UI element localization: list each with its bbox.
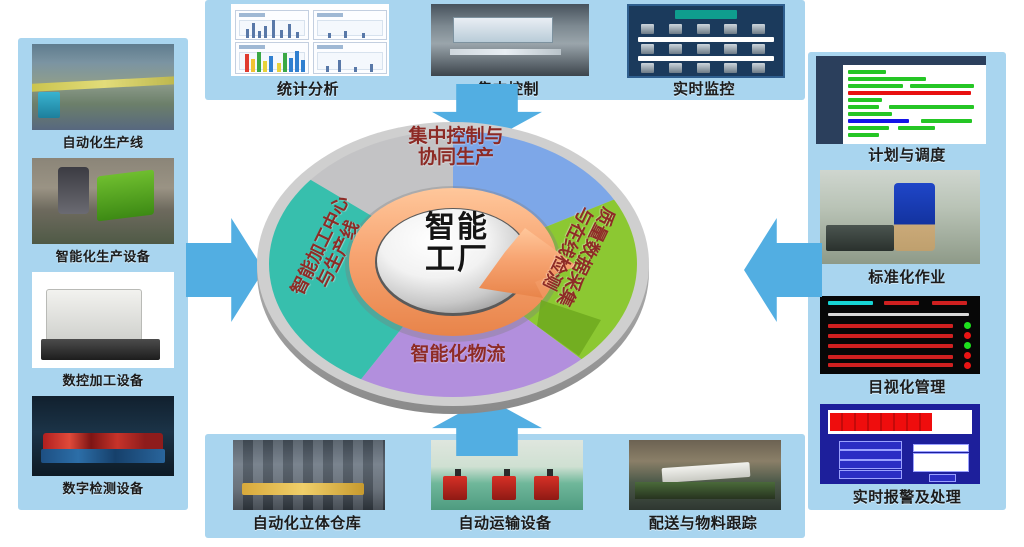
intelligent-production-equipment-thumbnail: [32, 158, 174, 244]
right-item-0[interactable]: 计划与调度: [812, 56, 1002, 166]
core-label: 智能 工厂: [377, 212, 537, 276]
right-item-2-caption: 目视化管理: [812, 376, 1002, 397]
left-panel: 自动化生产线 智能化生产设备 数控加工设备 数字检测设备: [18, 38, 188, 510]
right-item-0-caption: 计划与调度: [812, 144, 1002, 165]
diagram-canvas: 自动化生产线 智能化生产设备 数控加工设备 数字检测设备: [0, 0, 1024, 547]
bottom-item-2-caption: 配送与物料跟踪: [607, 512, 799, 533]
right-item-1-caption: 标准化作业: [812, 266, 1002, 287]
gantt-schedule-thumbnail: [816, 56, 986, 144]
left-item-1-caption: 智能化生产设备: [26, 246, 180, 265]
left-item-2-caption: 数控加工设备: [26, 370, 180, 389]
left-item-3-caption: 数字检测设备: [26, 478, 180, 497]
top-item-2-caption: 实时监控: [609, 78, 799, 99]
segment-top-label: 集中控制与 协同生产: [361, 126, 551, 169]
right-item-3[interactable]: 实时报警及处理: [812, 404, 1002, 508]
smart-factory-wheel: 集中控制与 协同生产 质量数据采集 与在线检测 智能化物流 智能加工中心 与生产…: [243, 112, 663, 417]
automated-warehouse-thumbnail: [233, 440, 385, 510]
right-item-1[interactable]: 标准化作业: [812, 170, 1002, 292]
left-item-2[interactable]: 数控加工设备: [26, 272, 180, 394]
bottom-item-0-caption: 自动化立体仓库: [211, 512, 403, 533]
top-item-0-caption: 统计分析: [213, 78, 403, 99]
right-panel: 计划与调度 标准化作业: [808, 52, 1006, 510]
realtime-monitor-thumbnail: [627, 4, 785, 78]
cnc-machine-thumbnail: [32, 272, 174, 368]
material-tracking-thumbnail: [629, 440, 781, 510]
alarm-handling-thumbnail: [820, 404, 980, 484]
digital-inspection-thumbnail: [32, 396, 174, 476]
left-item-0-caption: 自动化生产线: [26, 132, 180, 151]
automated-production-line-thumbnail: [32, 44, 174, 130]
bottom-item-1-caption: 自动运输设备: [409, 512, 601, 533]
top-item-1[interactable]: 集中控制: [413, 4, 603, 98]
top-item-2[interactable]: 实时监控: [609, 4, 799, 98]
right-item-2[interactable]: 目视化管理: [812, 296, 1002, 404]
segment-bottom-label: 智能化物流: [363, 344, 553, 365]
right-item-3-caption: 实时报警及处理: [812, 486, 1002, 507]
control-room-thumbnail: [431, 4, 589, 76]
left-item-3[interactable]: 数字检测设备: [26, 396, 180, 508]
andon-board-thumbnail: [820, 296, 980, 374]
bottom-item-2[interactable]: 配送与物料跟踪: [607, 440, 799, 536]
left-item-1[interactable]: 智能化生产设备: [26, 158, 180, 270]
dashboard-charts-thumbnail: [231, 4, 389, 76]
top-item-0[interactable]: 统计分析: [213, 4, 403, 98]
bottom-item-0[interactable]: 自动化立体仓库: [211, 440, 403, 536]
left-item-0[interactable]: 自动化生产线: [26, 44, 180, 156]
standard-work-thumbnail: [820, 170, 980, 264]
